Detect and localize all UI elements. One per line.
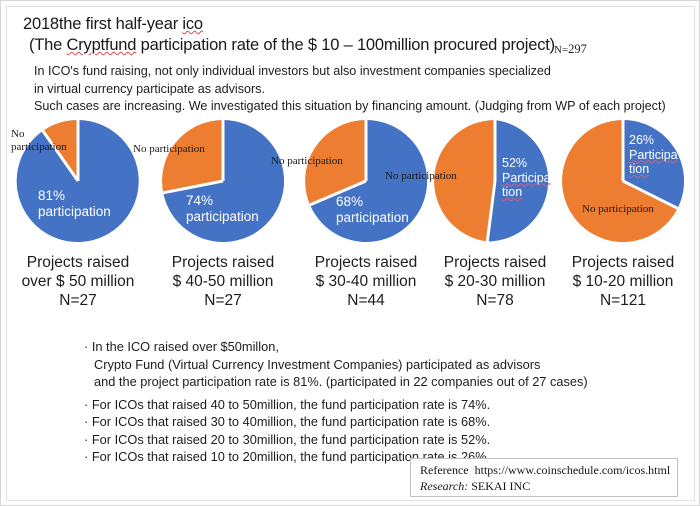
caption-line-2: over $ 50 million xyxy=(22,273,135,290)
summary-bullet-a-line3: and the project participation rate is 81… xyxy=(84,373,588,391)
page-title-line2-open: (The xyxy=(29,36,67,54)
pie-outer-label-over-50m: No participation xyxy=(11,128,67,154)
summary-bullet-a-line2: Crypto Fund (Virtual Currency Investment… xyxy=(84,356,588,374)
summary-bullets-primary: · In the ICO raised over $50millon, Cryp… xyxy=(84,338,588,391)
caption-line-1: Projects raised xyxy=(444,254,547,271)
pie-outer-label-40-50m: No participation xyxy=(133,143,205,156)
page-title-line1-text: 2018the first half-year xyxy=(23,15,182,33)
caption-line-1: Projects raised xyxy=(572,254,675,271)
pie-inner-label-text-1: Participa xyxy=(629,148,678,163)
reference-label: Reference xyxy=(420,463,469,477)
pie-chart-40-50m: No participation 74% participation xyxy=(157,117,289,245)
pie-inner-label-pct: 26% xyxy=(629,133,678,148)
pie-outer-label-line1: No xyxy=(11,128,67,141)
pie-inner-label-text-1: Participa xyxy=(502,171,551,186)
caption-line-1: Projects raised xyxy=(315,254,418,271)
sample-size-label: N= xyxy=(554,44,568,56)
summary-bullet-a-line1: · In the ICO raised over $50millon, xyxy=(84,338,588,356)
page-title-line1: 2018the first half-year ico xyxy=(23,15,203,34)
caption-line-2: $ 20-30 million xyxy=(445,273,546,290)
pie-outer-label-line1: No participation xyxy=(385,170,457,183)
sample-size-value: 297 xyxy=(568,42,587,56)
pie-caption-40-50m: Projects raised $ 40-50 million N=27 xyxy=(148,253,298,310)
pie-outer-label-line1: No participation xyxy=(271,155,343,168)
pie-chart-over-50m: No participation 81% participation xyxy=(12,117,144,245)
pie-inner-label-40-50m: 74% participation xyxy=(186,193,259,224)
pie-inner-label-10-20m: 26% Participa tion xyxy=(629,133,678,177)
research-value: SEKAI INC xyxy=(471,479,530,493)
pie-inner-label-pct: 74% xyxy=(186,193,259,209)
pie-outer-label-line1: No participation xyxy=(582,203,654,216)
caption-line-1: Projects raised xyxy=(172,254,275,271)
sample-size-badge: N=297 xyxy=(554,42,587,57)
reference-box: Reference https://www.coinschedule.com/i… xyxy=(410,458,678,497)
summary-bullets-secondary: · For ICOs that raised 40 to 50million, … xyxy=(84,396,490,466)
pie-inner-label-pct: 68% xyxy=(336,194,409,210)
slide-canvas: 2018the first half-year ico (The Cryptfu… xyxy=(0,0,700,506)
reference-url[interactable]: https://www.coinschedule.com/icos.html xyxy=(475,463,671,477)
pie-chart-10-20m: No participation 26% Participa tion xyxy=(557,117,689,245)
pie-inner-label-text: participation xyxy=(186,209,259,225)
intro-line-3: Such cases are increasing. We investigat… xyxy=(34,98,666,116)
page-title-line2-cryptfund: Cryptfund xyxy=(67,36,137,54)
summary-bullet-b-line3: · For ICOs that raised 20 to 30million, … xyxy=(84,431,490,448)
caption-line-2: $ 40-50 million xyxy=(173,273,274,290)
page-title-line1-ico: ico xyxy=(182,15,203,33)
intro-line-2: in virtual currency participate as advis… xyxy=(34,81,666,99)
caption-sample: N=121 xyxy=(548,291,698,310)
pie-outer-label-30-40m: No participation xyxy=(271,155,343,168)
pie-chart-row: No participation 81% participation No pa… xyxy=(1,117,700,247)
pie-svg-40-50m xyxy=(157,117,289,245)
research-line: Research: SEKAI INC xyxy=(420,478,677,494)
intro-paragraph: In ICO's fund raising, not only individu… xyxy=(34,63,666,116)
caption-line-1: Projects raised xyxy=(27,254,130,271)
pie-inner-label-pct: 52% xyxy=(502,156,551,171)
pie-caption-over-50m: Projects raised over $ 50 million N=27 xyxy=(3,253,153,310)
pie-outer-label-line1: No participation xyxy=(133,143,205,156)
caption-sample: N=27 xyxy=(3,291,153,310)
caption-sample: N=44 xyxy=(291,291,441,310)
pie-inner-label-pct: 81% xyxy=(38,188,111,204)
pie-inner-label-text-2: tion xyxy=(629,162,678,177)
page-title-line2-mid: participation rate of the xyxy=(136,36,308,54)
caption-sample: N=27 xyxy=(148,291,298,310)
pie-chart-20-30m: No participation 52% Participa tion xyxy=(429,117,561,245)
pie-outer-label-10-20m: No participation xyxy=(582,203,654,216)
pie-caption-10-20m: Projects raised $ 10-20 million N=121 xyxy=(548,253,698,310)
reference-line: Reference https://www.coinschedule.com/i… xyxy=(420,462,677,478)
research-label: Research: xyxy=(420,479,468,493)
pie-inner-label-text: participation xyxy=(38,204,111,220)
pie-outer-label-20-30m: No participation xyxy=(385,170,457,183)
pie-inner-label-over-50m: 81% participation xyxy=(38,188,111,219)
intro-line-1: In ICO's fund raising, not only individu… xyxy=(34,63,666,81)
caption-line-2: $ 10-20 million xyxy=(573,273,674,290)
pie-inner-label-20-30m: 52% Participa tion xyxy=(502,156,551,200)
summary-bullet-b-line1: · For ICOs that raised 40 to 50million, … xyxy=(84,396,490,413)
pie-caption-30-40m: Projects raised $ 30-40 million N=44 xyxy=(291,253,441,310)
summary-bullet-b-line2: · For ICOs that raised 30 to 40million, … xyxy=(84,413,490,430)
pie-caption-row: Projects raised over $ 50 million N=27 P… xyxy=(1,253,700,315)
page-title-line2: (The Cryptfund participation rate of the… xyxy=(29,36,555,55)
caption-line-2: $ 30-40 million xyxy=(316,273,417,290)
pie-inner-label-text-2: tion xyxy=(502,185,551,200)
pie-outer-label-line2: participation xyxy=(11,141,67,154)
page-title-line2-end: $ 10 – 100million procured project) xyxy=(308,36,555,54)
pie-inner-label-text: participation xyxy=(336,210,409,226)
pie-inner-label-30-40m: 68% participation xyxy=(336,194,409,225)
